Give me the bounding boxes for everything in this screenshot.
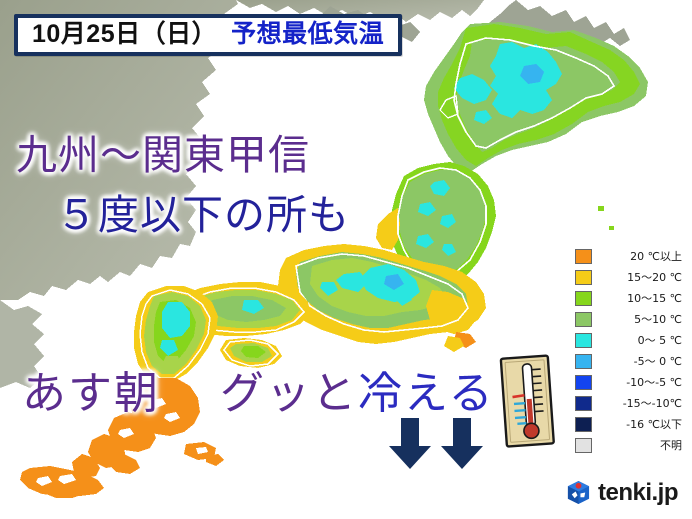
headline-line-1: 九州〜関東甲信 <box>16 121 310 181</box>
headline-bottom-part3: 冷える <box>358 369 495 418</box>
legend-row: 20 ℃以上 <box>575 246 682 266</box>
legend-swatch <box>575 417 592 432</box>
legend-label: 15〜20 ℃ <box>600 269 682 285</box>
cube-logo-icon <box>566 480 591 505</box>
arrow-down-icon <box>388 418 432 470</box>
temperature-legend: 20 ℃以上 15〜20 ℃ 10〜15 ℃ 5〜10 ℃ 0〜 5 ℃ -5〜… <box>575 246 682 456</box>
headline-bottom: あす朝グッと冷える <box>22 357 495 421</box>
headline-line-2: ５度以下の所も <box>56 181 350 241</box>
legend-label: 5〜10 ℃ <box>600 311 682 327</box>
thermometer-graphic <box>499 353 557 448</box>
headline-bottom-part2: グッと <box>220 369 358 418</box>
thermometer-icon <box>499 353 558 453</box>
legend-row: -5〜 0 ℃ <box>575 351 682 371</box>
legend-swatch <box>575 291 592 306</box>
legend-row: 5〜10 ℃ <box>575 309 682 329</box>
legend-label: -5〜 0 ℃ <box>600 353 682 369</box>
legend-label: -15〜-10℃ <box>600 395 682 411</box>
small-islets <box>598 206 614 230</box>
legend-row: 15〜20 ℃ <box>575 267 682 287</box>
legend-label: 不明 <box>600 437 682 453</box>
legend-label: -16 ℃以下 <box>600 416 682 432</box>
headline-bottom-part1: あす朝 <box>22 369 160 418</box>
weather-map-screenshot: 10月25日（日） 予想最低気温 九州〜関東甲信 ５度以下の所も あす朝グッと冷… <box>0 0 692 519</box>
legend-swatch <box>575 249 592 264</box>
legend-swatch <box>575 333 592 348</box>
title-date: 10月25日（日） <box>32 21 217 47</box>
tenki-jp-logo[interactable]: tenki.jp <box>566 480 678 505</box>
legend-label: -10〜-5 ℃ <box>600 374 682 390</box>
legend-row: 10〜15 ℃ <box>575 288 682 308</box>
logo-text: tenki.jp <box>598 481 678 505</box>
legend-swatch <box>575 375 592 390</box>
legend-label: 0〜 5 ℃ <box>600 332 682 348</box>
title-plate: 10月25日（日） 予想最低気温 <box>14 14 402 56</box>
legend-row: -10〜-5 ℃ <box>575 372 682 392</box>
legend-row: -16 ℃以下 <box>575 414 682 434</box>
title-forecast-kind: 予想最低気温 <box>231 21 384 47</box>
legend-swatch <box>575 270 592 285</box>
arrow-down-icon <box>440 418 484 470</box>
region-hokkaido <box>424 22 648 172</box>
legend-label: 10〜15 ℃ <box>600 290 682 306</box>
legend-label: 20 ℃以上 <box>600 248 682 264</box>
legend-row: -15〜-10℃ <box>575 393 682 413</box>
temperature-drop-arrow-right <box>440 418 484 470</box>
legend-swatch <box>575 396 592 411</box>
legend-swatch <box>575 312 592 327</box>
temperature-drop-arrow-left <box>388 418 432 470</box>
legend-swatch <box>575 438 592 453</box>
legend-row: 不明 <box>575 435 682 455</box>
legend-swatch <box>575 354 592 369</box>
legend-row: 0〜 5 ℃ <box>575 330 682 350</box>
